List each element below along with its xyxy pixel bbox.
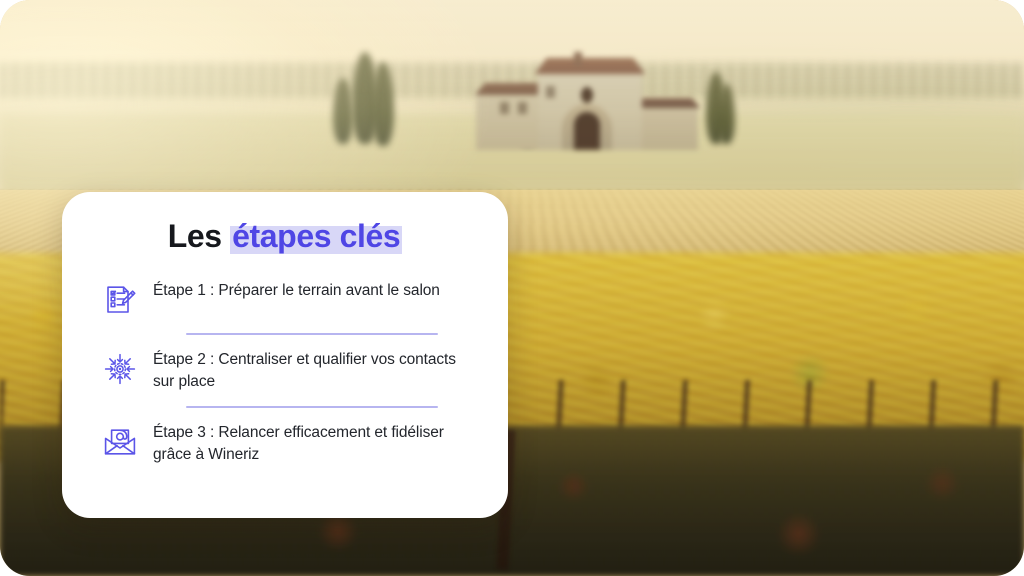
divider [186, 333, 438, 335]
steps-card: Les étapes clés Étape [62, 192, 508, 518]
email-envelope-at-icon [100, 422, 140, 462]
list-item: Étape 1 : Préparer le terrain avant le s… [96, 278, 474, 320]
steps-list: Étape 1 : Préparer le terrain avant le s… [96, 278, 474, 466]
page-title-plain: Les [168, 218, 230, 254]
clipboard-checklist-pencil-icon [100, 280, 140, 320]
list-item-label: Étape 3 : Relancer efficacement et fidél… [153, 420, 474, 466]
list-item-label: Étape 1 : Préparer le terrain avant le s… [153, 278, 440, 302]
page-title-accent: étapes clés [230, 218, 402, 254]
list-item: Étape 2 : Centraliser et qualifier vos c… [96, 347, 474, 393]
list-item-label: Étape 2 : Centraliser et qualifier vos c… [153, 347, 474, 393]
slide-container: Les étapes clés Étape [0, 0, 1024, 576]
list-item: Étape 3 : Relancer efficacement et fidél… [96, 420, 474, 466]
page-title: Les étapes clés [96, 218, 474, 256]
divider [186, 406, 438, 408]
centralize-arrows-hub-icon [100, 349, 140, 389]
